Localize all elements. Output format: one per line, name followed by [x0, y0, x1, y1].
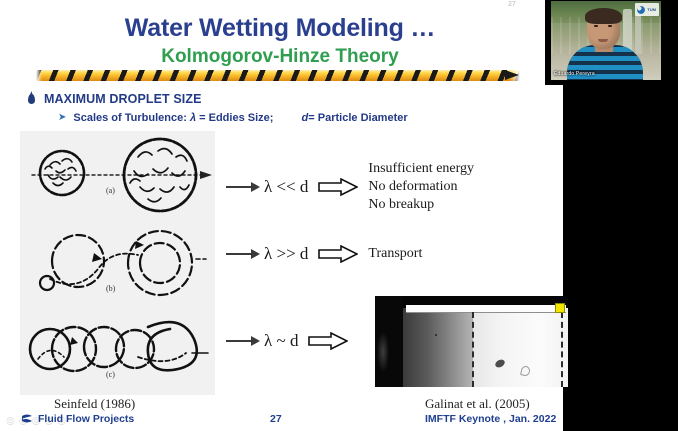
particle-diameter-label: = Particle Diameter [308, 112, 407, 124]
top-page-number: 27 [508, 1, 516, 8]
implies-arrow-icon-3 [308, 332, 348, 350]
photo-dark-channel [403, 308, 473, 387]
result-line-1b: No deformation [368, 179, 457, 194]
webcam-person-eye-right [608, 25, 612, 27]
condition-expression-2: λ >> d [264, 244, 308, 264]
fluid-flow-projects-logo-icon [20, 412, 34, 426]
result-text-2: Transport [368, 245, 422, 263]
implies-arrow-icon-2 [318, 245, 358, 263]
webcam-person-mouth [598, 39, 608, 42]
condition-expression-1: λ << d [264, 177, 308, 197]
condition-row-3: λ ~ d [226, 331, 348, 351]
eddies-size-label: = Eddies Size; [199, 112, 273, 124]
footer-page-number: 27 [270, 413, 282, 425]
photo-left-smear [377, 332, 389, 372]
page-title: Water Wetting Modeling … [0, 14, 560, 43]
turbulence-sketch-diagram: (a) (b) [20, 131, 215, 395]
svg-text:(c): (c) [106, 370, 115, 379]
lambda-symbol: λ [190, 112, 196, 124]
condition-row-2: λ >> d Transport [226, 244, 422, 264]
decorative-divider-bar [36, 70, 520, 81]
chevron-right-icon: ➤ [58, 113, 66, 123]
photo-dashed-line-right [561, 312, 563, 387]
bullet-level2-label: Scales of Turbulence: λ = Eddies Size; d… [73, 112, 407, 124]
swirl-logo-icon [637, 6, 645, 14]
webcam-tile[interactable]: TUM Eduardo Pereyra [551, 1, 661, 80]
result-line-1a: Insufficient energy [368, 161, 474, 176]
bullet-level1-label: MAXIMUM DROPLET SIZE [44, 92, 202, 106]
condition-expression-3: λ ~ d [264, 331, 298, 351]
webcam-participant-name: Eduardo Pereyra [554, 71, 595, 77]
scales-prefix: Scales of Turbulence: [73, 112, 187, 124]
webcam-person-eye-left [594, 25, 598, 27]
slide-canvas: TUM Eduardo Pereyra 27 Water Wetting Mod… [0, 0, 678, 431]
result-line-1c: No breakup [368, 197, 434, 212]
result-text-1: Insufficient energy No deformation No br… [368, 160, 474, 214]
webcam-corner-logo-label: TUM [647, 7, 656, 12]
svg-text:(b): (b) [106, 284, 116, 293]
arrow-right-icon-3 [226, 335, 260, 347]
photo-top-bar [406, 305, 566, 313]
footer-brand-label: Fluid Flow Projects [38, 413, 134, 425]
turbulence-sketch-panel: (a) (b) [20, 131, 215, 395]
photo-speck [435, 334, 437, 336]
experimental-photo [375, 296, 568, 387]
page-subtitle: Kolmogorov-Hinze Theory [0, 46, 560, 68]
reference-left: Seinfeld (1986) [54, 396, 135, 412]
implies-arrow-icon-1 [318, 178, 358, 196]
photo-yellow-marker [555, 303, 565, 313]
arrow-right-icon-1 [226, 181, 260, 193]
webcam-corner-logo: TUM [635, 3, 659, 16]
footer-brand: Fluid Flow Projects [20, 412, 134, 426]
photo-dashed-line-left [472, 312, 474, 387]
arrow-right-icon-2 [226, 248, 260, 260]
condition-row-1: λ << d Insufficient energy No deformatio… [226, 160, 474, 214]
svg-text:(a): (a) [106, 186, 115, 195]
bullet-scales-of-turbulence: ➤ Scales of Turbulence: λ = Eddies Size;… [58, 112, 408, 124]
footer-event-label: IMFTF Keynote , Jan. 2022 [425, 413, 556, 425]
droplet-bullet-icon [28, 94, 35, 104]
bullet-maximum-droplet-size: MAXIMUM DROPLET SIZE [28, 92, 202, 106]
webcam-person-hair [585, 8, 622, 24]
decorative-divider-arrow-icon [505, 70, 519, 80]
reference-right: Galinat et al. (2005) [425, 396, 530, 412]
